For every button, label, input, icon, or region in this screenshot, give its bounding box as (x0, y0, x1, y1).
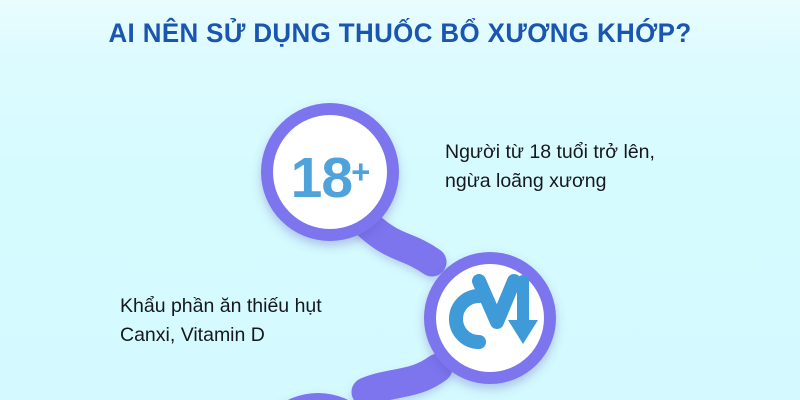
infographic-slide: AI NÊN SỬ DỤNG THUỐC BỔ XƯƠNG KHỚP? (0, 0, 800, 400)
caption-age-group: Người từ 18 tuổi trở lên, ngừa loãng xươ… (445, 138, 765, 196)
badge-age-18-plus (261, 103, 399, 241)
caption-diet-deficiency: Khẩu phần ăn thiếu hụt Canxi, Vitamin D (120, 292, 420, 350)
